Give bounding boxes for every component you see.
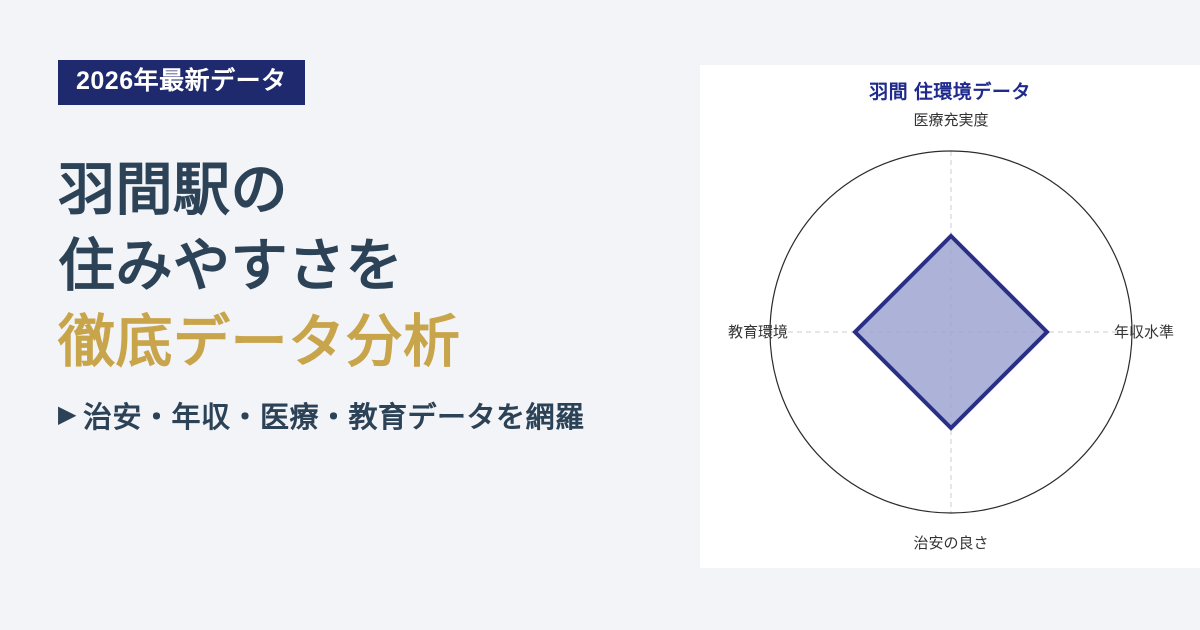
page-subtitle: ▶ 治安・年収・医療・教育データを網羅	[58, 394, 700, 436]
triangle-right-icon: ▶	[58, 403, 77, 427]
page-title-line-3-accent: 徹底データ分析	[58, 305, 700, 381]
page-title-line-1: 羽間駅の	[58, 153, 700, 229]
radar-axis-label-top: 医療充実度	[913, 112, 988, 129]
status-badge: 2026年最新データ	[58, 60, 305, 105]
radar-axis-label-bottom: 治安の良さ	[913, 535, 988, 552]
page-subtitle-label: 治安・年収・医療・教育データを網羅	[83, 394, 585, 436]
radar-chart-panel: 羽間 住環境データ 医療充実度 年収水準 治安の良さ 教育環境	[700, 65, 1200, 568]
radar-chart-svg: 医療充実度 年収水準 治安の良さ 教育環境	[700, 65, 1200, 568]
hero-text-column: 2026年最新データ 羽間駅の 住みやすさを 徹底データ分析 ▶ 治安・年収・医…	[0, 0, 700, 630]
radar-axis-label-right: 年収水準	[1114, 324, 1174, 341]
page-title-line-2: 住みやすさを	[58, 229, 700, 305]
radar-axis-label-left: 教育環境	[728, 323, 788, 341]
page-title: 羽間駅の 住みやすさを 徹底データ分析	[58, 153, 700, 380]
radar-data-polygon	[855, 236, 1047, 428]
